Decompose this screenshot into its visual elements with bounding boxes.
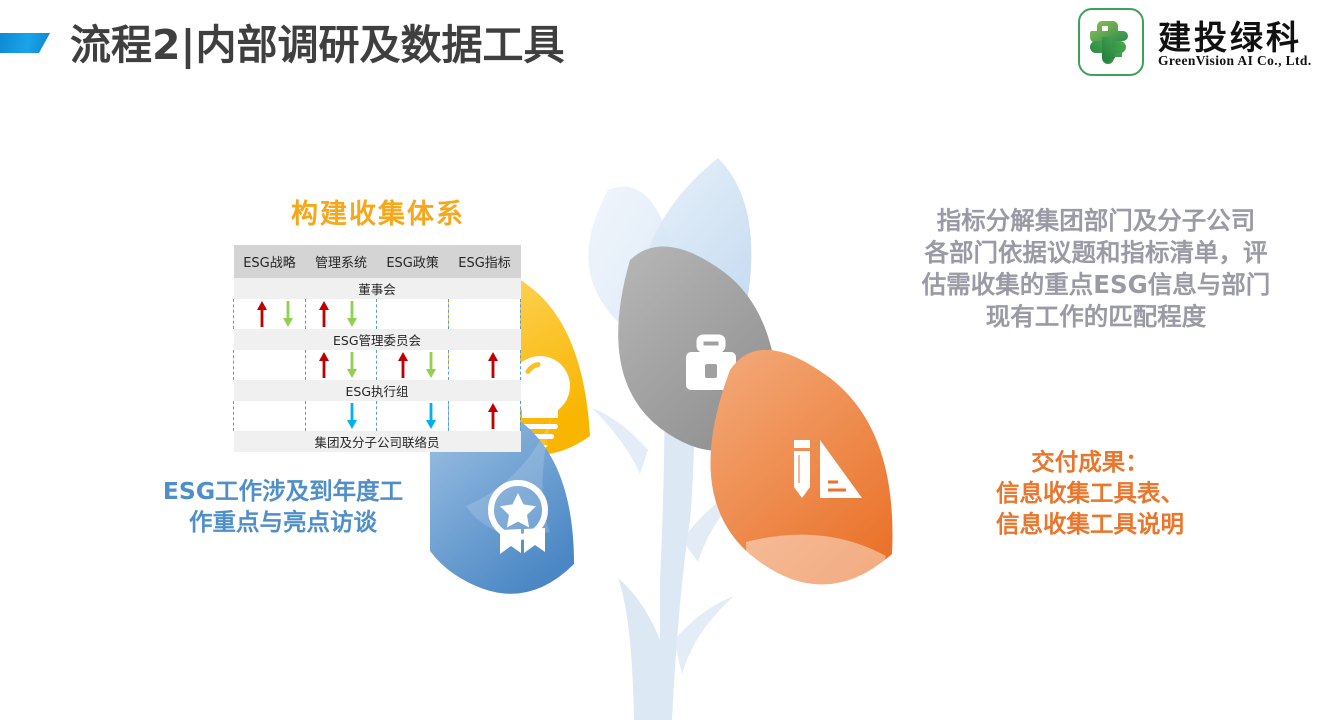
annotation-left: ESG工作涉及到年度工 作重点与亮点访谈: [138, 476, 428, 538]
matrix-col-header-2: ESG政策: [377, 245, 449, 278]
arrow-cell-b1-c3: [449, 299, 521, 329]
annotation-line: 交付成果：: [930, 447, 1250, 478]
matrix-arrow-band-3: [234, 401, 521, 431]
collection-system-matrix: ESG战略 管理系统 ESG政策 ESG指标 董事会: [233, 245, 521, 452]
annotation-line: 各部门依据议题和指标清单，评: [886, 237, 1306, 269]
title-marker-shape: [0, 33, 50, 53]
arrow-cell-b3-c0: [234, 401, 306, 431]
interlocking-cross-icon: [1085, 15, 1137, 69]
arrow-down-green: [346, 301, 358, 327]
annotation-right-bottom: 交付成果： 信息收集工具表、 信息收集工具说明: [930, 447, 1250, 540]
arrow-down-green: [282, 301, 294, 327]
arrow-cell-b2-c2: [377, 350, 449, 380]
annotation-line: 作重点与亮点访谈: [138, 507, 428, 538]
matrix-arrow-band-2: [234, 350, 521, 380]
arrow-cell-b2-c1: [305, 350, 376, 380]
matrix-col-header-0: ESG战略: [234, 245, 306, 278]
matrix-level-label-1: ESG管理委员会: [234, 329, 521, 350]
collection-system-title: 构建收集体系: [233, 192, 523, 231]
annotation-line: 现有工作的匹配程度: [886, 301, 1306, 333]
design-leaf-overlay: [746, 535, 886, 628]
arrow-up-red: [487, 403, 499, 429]
matrix-level-row-2: ESG执行组: [234, 380, 521, 401]
arrow-cell-b3-c3: [449, 401, 521, 431]
matrix-level-label-2: ESG执行组: [234, 380, 521, 401]
arrow-cell-b3-c1: [305, 401, 376, 431]
matrix-col-header-3: ESG指标: [449, 245, 521, 278]
logo-name-en: GreenVision AI Co., Ltd.: [1158, 53, 1312, 69]
slide-canvas: 流程2|内部调研及数据工具: [0, 0, 1334, 717]
matrix-level-label-3: 集团及分子公司联络员: [234, 431, 521, 452]
annotation-line: 信息收集工具说明: [930, 509, 1250, 540]
arrow-cell-b3-c2: [377, 401, 449, 431]
matrix-level-row-0: 董事会: [234, 278, 521, 299]
arrow-down-cyan: [346, 403, 358, 429]
company-logo: 建投绿科 GreenVision AI Co., Ltd.: [1078, 7, 1326, 81]
matrix-col-header-1: 管理系统: [305, 245, 376, 278]
arrow-down-green: [346, 352, 358, 378]
arrow-up-red: [487, 352, 499, 378]
arrow-cell-b2-c3: [449, 350, 521, 380]
matrix-level-row-1: ESG管理委员会: [234, 329, 521, 350]
logo-name-cn: 建投绿科: [1158, 11, 1302, 59]
matrix-arrow-band-1: [234, 299, 521, 329]
matrix-level-label-0: 董事会: [234, 278, 521, 299]
annotation-right-top: 指标分解集团部门及分子公司 各部门依据议题和指标清单，评 估需收集的重点ESG信…: [886, 205, 1306, 333]
arrow-cell-b1-c1: [305, 299, 376, 329]
annotation-line: ESG工作涉及到年度工: [138, 476, 428, 507]
arrow-down-cyan: [425, 403, 437, 429]
arrow-up-red: [397, 352, 409, 378]
matrix-header-row: ESG战略 管理系统 ESG政策 ESG指标: [234, 245, 521, 278]
page-title: 流程2|内部调研及数据工具: [70, 11, 565, 71]
annotation-line: 信息收集工具表、: [930, 478, 1250, 509]
matrix-level-row-3: 集团及分子公司联络员: [234, 431, 521, 452]
arrow-up-red: [256, 301, 268, 327]
arrow-up-red: [318, 352, 330, 378]
logo-mark-icon: [1078, 8, 1144, 76]
arrow-cell-b1-c2: [377, 299, 449, 329]
arrow-down-green: [425, 352, 437, 378]
slide-header: 流程2|内部调研及数据工具: [0, 0, 1334, 92]
arrow-cell-b1-c0: [234, 299, 306, 329]
arrow-up-red: [318, 301, 330, 327]
arrow-cell-b2-c0: [234, 350, 306, 380]
annotation-line: 指标分解集团部门及分子公司: [886, 205, 1306, 237]
annotation-line: 估需收集的重点ESG信息与部门: [886, 269, 1306, 301]
